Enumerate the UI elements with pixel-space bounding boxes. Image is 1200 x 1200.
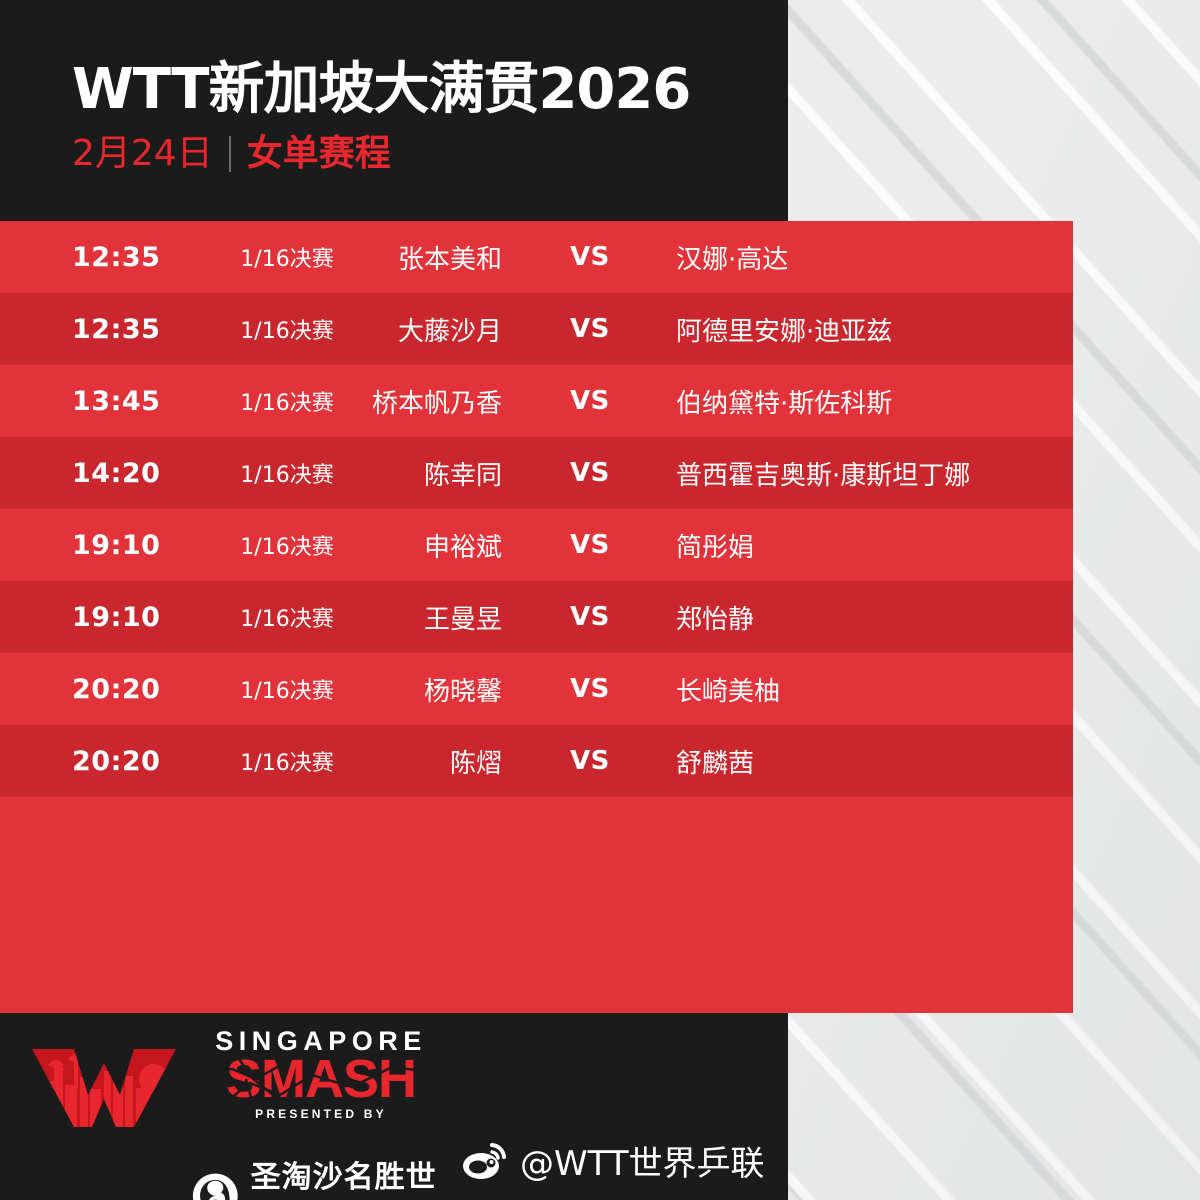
table-row: 14:201/16决赛陈幸同VS普西霍吉奥斯·康斯坦丁娜 bbox=[0, 437, 1073, 509]
schedule-panel: 12:351/16决赛张本美和VS汉娜·高达12:351/16决赛大藤沙月VS阿… bbox=[0, 221, 1073, 1013]
match-vs-label: VS bbox=[548, 458, 632, 488]
match-vs-label: VS bbox=[548, 746, 632, 776]
schedule-row-list: 12:351/16决赛张本美和VS汉娜·高达12:351/16决赛大藤沙月VS阿… bbox=[0, 221, 1073, 797]
sponsor-name: 圣淘沙名胜世界™ bbox=[251, 1152, 454, 1200]
match-time: 13:45 bbox=[72, 386, 192, 417]
page-title: WTT新加坡大满贯2026 bbox=[72, 62, 690, 118]
social-handle-text: @WTT世界乒联 bbox=[520, 1136, 765, 1185]
match-player-1: 大藤沙月 bbox=[352, 311, 502, 348]
resorts-world-sentosa-icon bbox=[192, 1170, 239, 1200]
table-row: 13:451/16决赛桥本帆乃香VS伯纳黛特·斯佐科斯 bbox=[0, 365, 1073, 437]
match-player-2: 普西霍吉奥斯·康斯坦丁娜 bbox=[676, 455, 1066, 492]
match-vs-label: VS bbox=[548, 386, 632, 416]
event-category: 女单赛程 bbox=[247, 136, 391, 172]
match-time: 20:20 bbox=[72, 674, 192, 705]
match-player-2: 伯纳黛特·斯佐科斯 bbox=[676, 383, 1066, 420]
match-player-2: 长崎美柚 bbox=[676, 671, 1066, 708]
event-branding: SINGAPORE SMASH PRESENTED BY bbox=[24, 1027, 454, 1135]
match-round: 1/16决赛 bbox=[222, 529, 352, 561]
poster-canvas: WTT新加坡大满贯2026 2月24日 女单赛程 12:351/16决赛张本美和… bbox=[0, 0, 1200, 1200]
match-player-2: 简彤娟 bbox=[676, 527, 1066, 564]
match-player-2: 郑怡静 bbox=[676, 599, 1066, 636]
match-vs-label: VS bbox=[548, 602, 632, 632]
match-time: 20:20 bbox=[72, 746, 192, 777]
table-row: 20:201/16决赛杨晓馨VS长崎美柚 bbox=[0, 653, 1073, 725]
table-row: 19:101/16决赛申裕斌VS简彤娟 bbox=[0, 509, 1073, 581]
table-row: 19:101/16决赛王曼昱VS郑怡静 bbox=[0, 581, 1073, 653]
smash-wordmark: SINGAPORE SMASH PRESENTED BY bbox=[192, 1027, 450, 1121]
match-player-1: 张本美和 bbox=[352, 239, 502, 276]
match-player-1: 杨晓馨 bbox=[352, 671, 502, 708]
subtitle-divider bbox=[229, 136, 231, 172]
match-player-2: 汉娜·高达 bbox=[676, 239, 1066, 276]
match-player-1: 陈熠 bbox=[352, 743, 502, 780]
match-player-1: 桥本帆乃香 bbox=[352, 383, 502, 420]
match-player-1: 陈幸同 bbox=[352, 455, 502, 492]
event-date: 2月24日 bbox=[72, 136, 213, 172]
match-time: 19:10 bbox=[72, 530, 192, 561]
match-vs-label: VS bbox=[548, 674, 632, 704]
table-row: 12:351/16决赛张本美和VS汉娜·高达 bbox=[0, 221, 1073, 293]
match-player-2: 舒麟茜 bbox=[676, 743, 1066, 780]
match-time: 19:10 bbox=[72, 602, 192, 633]
weibo-icon bbox=[462, 1141, 508, 1181]
match-player-1: 申裕斌 bbox=[352, 527, 502, 564]
match-round: 1/16决赛 bbox=[222, 457, 352, 489]
social-handle-block[interactable]: @WTT世界乒联 bbox=[462, 1136, 765, 1185]
match-vs-label: VS bbox=[548, 242, 632, 272]
match-round: 1/16决赛 bbox=[222, 385, 352, 417]
match-round: 1/16决赛 bbox=[222, 601, 352, 633]
presented-by-label: PRESENTED BY bbox=[192, 1107, 450, 1121]
header-bar: WTT新加坡大满贯2026 2月24日 女单赛程 bbox=[0, 0, 788, 221]
match-time: 12:35 bbox=[72, 314, 192, 345]
match-player-1: 王曼昱 bbox=[352, 599, 502, 636]
match-round: 1/16决赛 bbox=[222, 673, 352, 705]
smash-label: SMASH bbox=[192, 1053, 450, 1105]
match-player-2: 阿德里安娜·迪亚兹 bbox=[676, 311, 1066, 348]
sponsor-block: 圣淘沙名胜世界™ bbox=[192, 1152, 454, 1200]
table-row: 20:201/16决赛陈熠VS舒麟茜 bbox=[0, 725, 1073, 797]
match-vs-label: VS bbox=[548, 314, 632, 344]
table-row: 12:351/16决赛大藤沙月VS阿德里安娜·迪亚兹 bbox=[0, 293, 1073, 365]
match-round: 1/16决赛 bbox=[222, 241, 352, 273]
match-round: 1/16决赛 bbox=[222, 745, 352, 777]
header-subtitle: 2月24日 女单赛程 bbox=[72, 136, 391, 172]
sponsor-name-text: 圣淘沙名胜世界 bbox=[251, 1160, 437, 1200]
match-time: 12:35 bbox=[72, 242, 192, 273]
match-round: 1/16决赛 bbox=[222, 313, 352, 345]
match-vs-label: VS bbox=[548, 530, 632, 560]
match-time: 14:20 bbox=[72, 458, 192, 489]
wtt-w-skyline-logo bbox=[28, 1043, 180, 1131]
